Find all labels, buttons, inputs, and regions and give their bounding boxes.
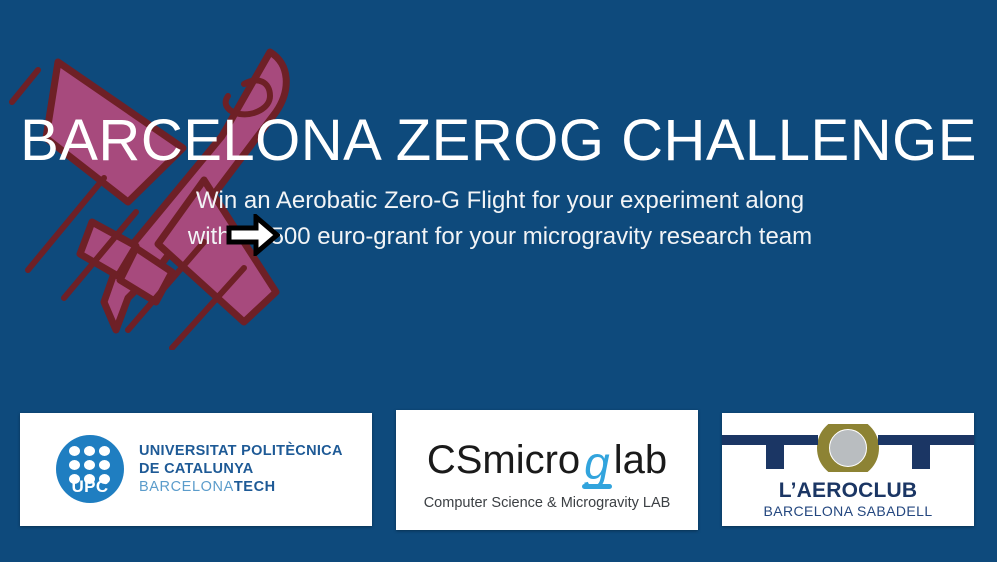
upc-line-3: BARCELONATECH (139, 478, 343, 496)
upc-line-3-bold: TECH (234, 479, 276, 495)
aeroclub-name: L’AEROCLUB (722, 479, 974, 503)
upc-line-3-light: BARCELONA (139, 479, 234, 495)
right-arrow-cursor-icon[interactable] (226, 214, 280, 256)
csmicrolab-accent-g: g (580, 436, 614, 490)
upc-logo: UPC UNIVERSITAT POLITÈCNICA DE CATALUNYA… (56, 435, 343, 503)
csmicrolab-word-left: CSmicro (427, 438, 580, 482)
upc-wordmark: UNIVERSITAT POLITÈCNICA DE CATALUNYA BAR… (139, 442, 343, 496)
aeroclub-wings-emblem-icon (722, 417, 974, 479)
aeroclub-subtitle: BARCELONA SABADELL (722, 503, 974, 519)
logo-card-csmicrolab[interactable]: CSmicroglab Computer Science & Micrograv… (396, 410, 698, 530)
upc-acronym-label: UPC (56, 477, 124, 497)
sponsor-logo-strip: UPC UNIVERSITAT POLITÈCNICA DE CATALUNYA… (0, 410, 997, 530)
upc-line-2: DE CATALUNYA (139, 460, 343, 478)
csmicrolab-wordmark: CSmicroglab (396, 436, 698, 490)
logo-card-upc[interactable]: UPC UNIVERSITAT POLITÈCNICA DE CATALUNYA… (20, 413, 372, 526)
presentation-slide: BARCELONA ZEROG CHALLENGE Win an Aerobat… (0, 0, 997, 562)
logo-card-aeroclub[interactable]: L’AEROCLUB BARCELONA SABADELL (722, 413, 974, 526)
csmicrolab-tagline: Computer Science & Microgravity LAB (396, 495, 698, 511)
upc-line-1: UNIVERSITAT POLITÈCNICA (139, 442, 343, 460)
page-title: BARCELONA ZEROG CHALLENGE (0, 105, 997, 177)
upc-roundel-icon: UPC (56, 435, 124, 503)
csmicrolab-word-right: lab (614, 438, 667, 482)
